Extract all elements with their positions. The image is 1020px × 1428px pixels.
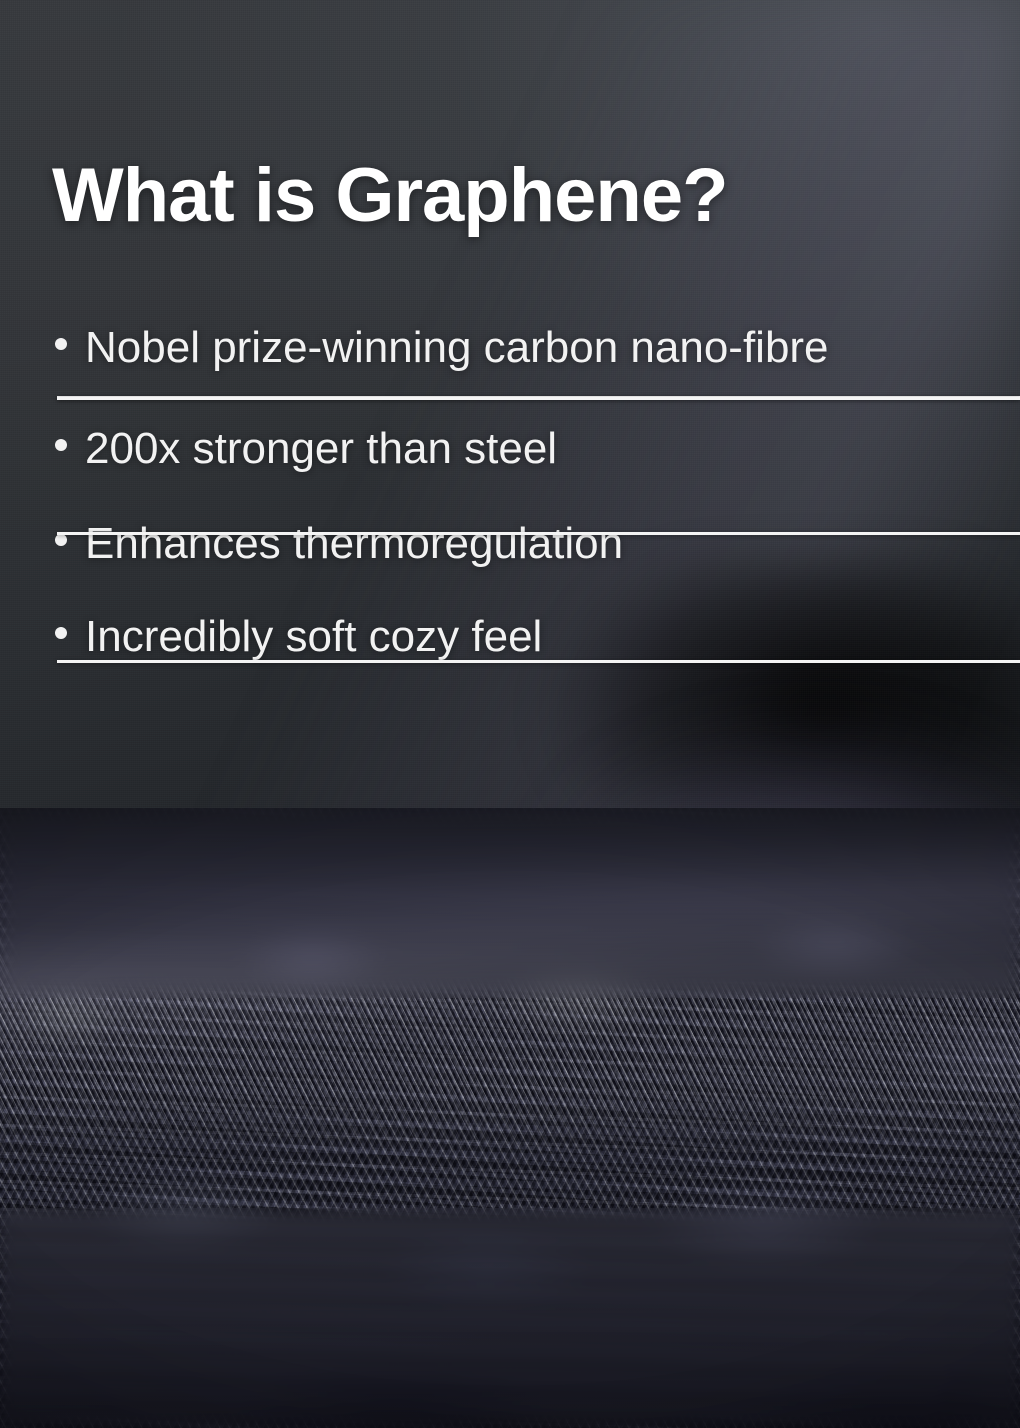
graphene-poster: What is Graphene? Nobel prize-winning ca… [0,0,1020,1428]
list-item: Enhances thermoregulation [0,472,1020,567]
dot-bullet-icon [55,338,67,350]
list-divider-1 [57,397,1020,400]
poster-content: What is Graphene? Nobel prize-winning ca… [0,0,1020,1428]
list-item: 200x stronger than steel [0,371,1020,472]
page-title: What is Graphene? [52,158,728,234]
bullet-text: 200x stronger than steel [85,427,557,472]
benefit-list: Nobel prize-winning carbon nano-fibre 20… [0,300,1020,660]
dot-bullet-icon [55,439,67,451]
bullet-text: Enhances thermoregulation [85,522,623,567]
bullet-line: Nobel prize-winning carbon nano-fibre [0,300,1020,371]
dot-bullet-icon [55,534,67,546]
list-item: Nobel prize-winning carbon nano-fibre [0,300,1020,371]
bullet-line: Enhances thermoregulation [0,472,1020,567]
list-divider-2 [57,532,1020,535]
dot-bullet-icon [55,627,67,639]
bullet-text: Incredibly soft cozy feel [85,615,542,660]
bullet-line: 200x stronger than steel [0,371,1020,472]
list-item: Incredibly soft cozy feel [0,567,1020,660]
bullet-text: Nobel prize-winning carbon nano-fibre [85,326,829,371]
list-divider-3 [57,660,1020,663]
bullet-line: Incredibly soft cozy feel [0,567,1020,660]
